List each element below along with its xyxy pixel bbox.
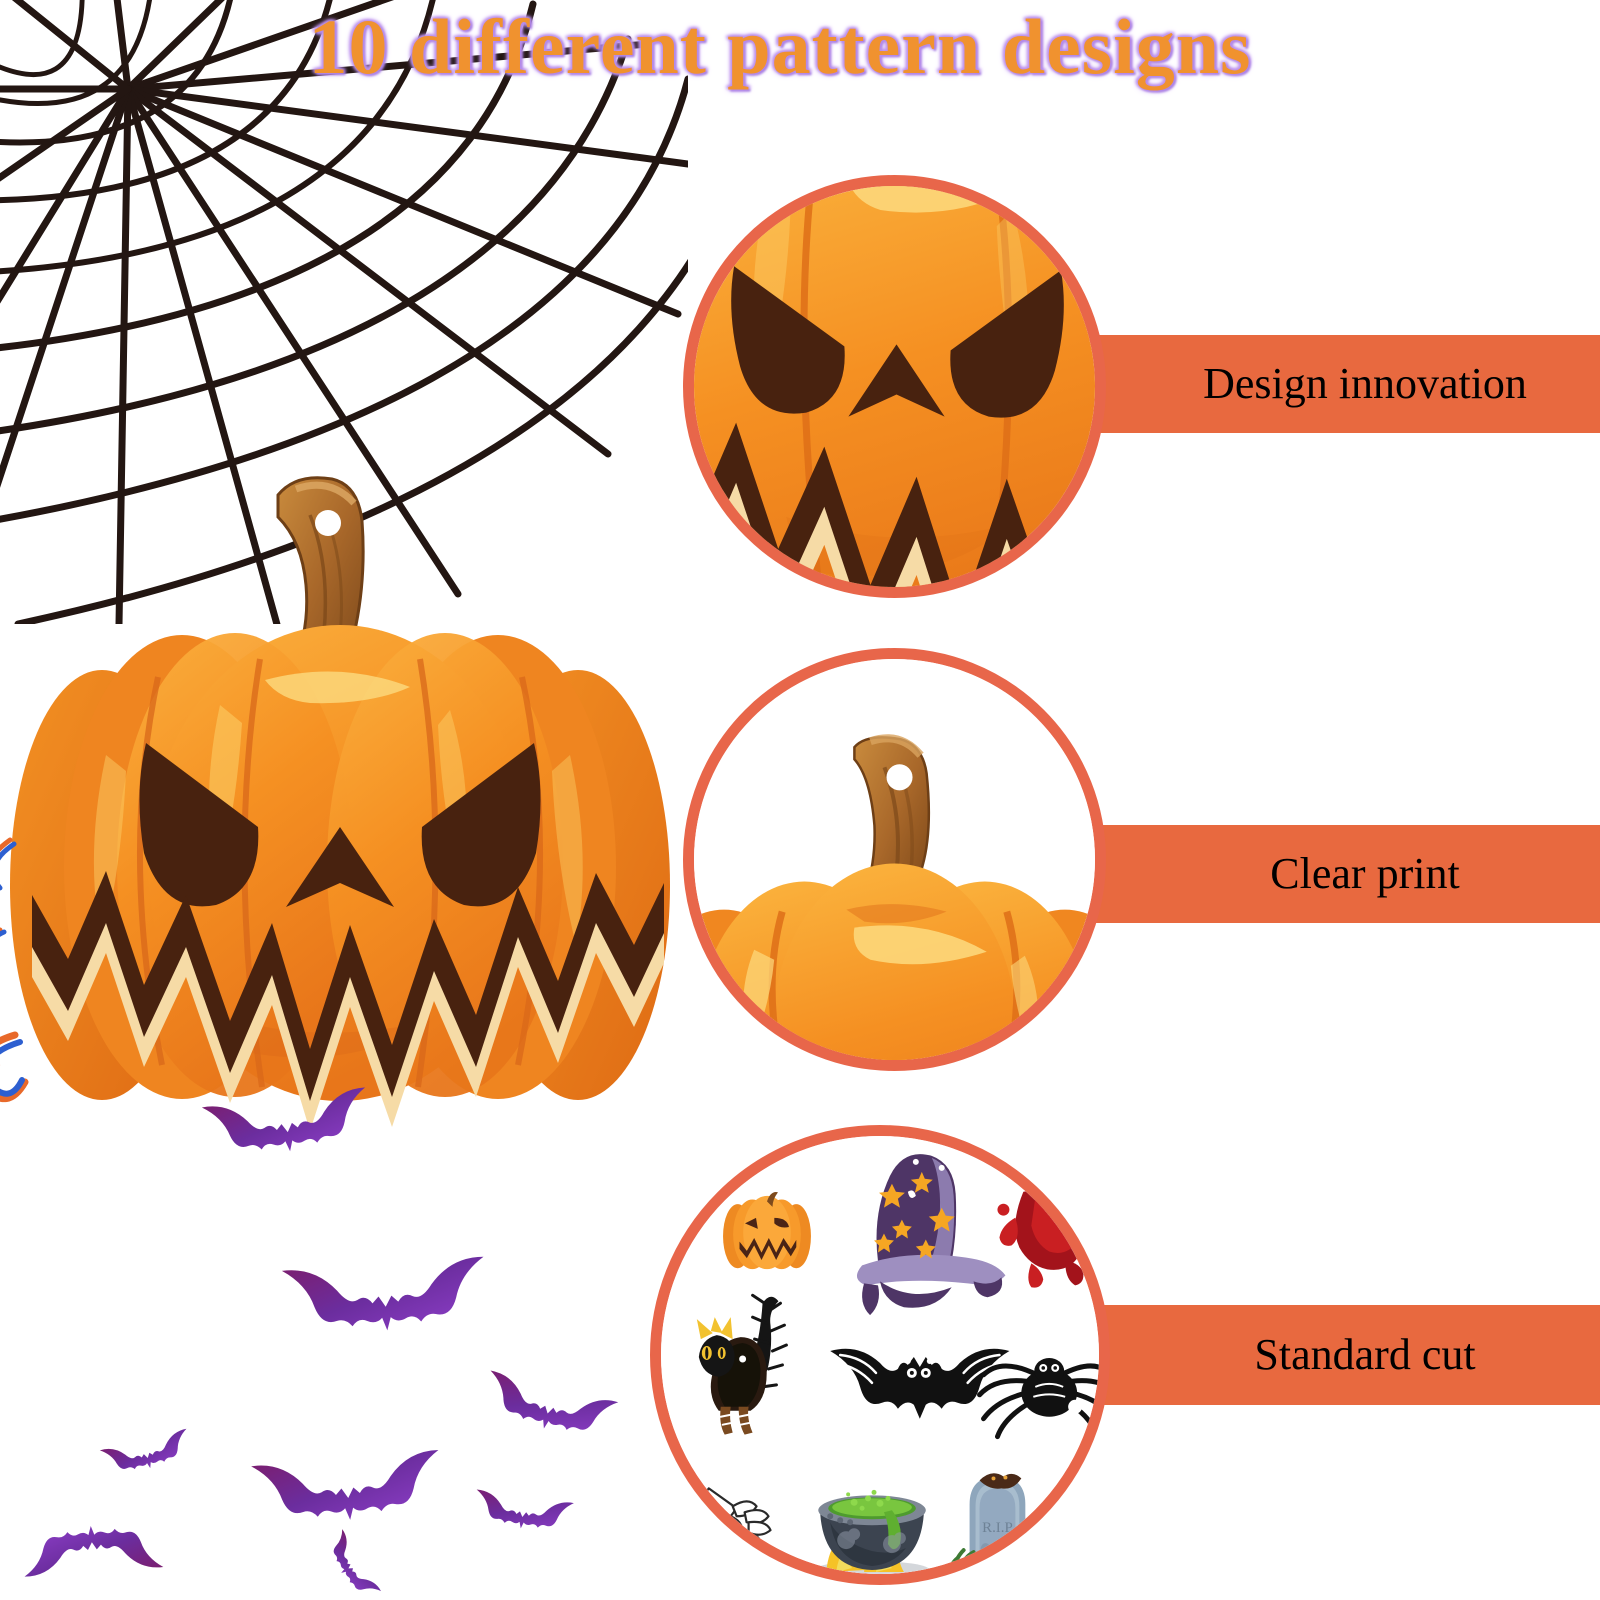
jack-o-lantern-icon (10, 455, 670, 1135)
callout-label-bar-design-innovation[interactable]: Design innovation (1060, 335, 1600, 433)
callout-circle-standard-cut[interactable]: R.I.P (650, 1125, 1110, 1585)
bat-icon (0, 1080, 700, 1600)
callout-circle-design-innovation[interactable] (683, 175, 1106, 598)
callout-label-clear-print: Clear print (1060, 852, 1600, 896)
callout-label-bar-standard-cut[interactable]: Standard cut (1060, 1305, 1600, 1405)
poster-canvas: 10 different pattern designs (0, 0, 1600, 1600)
swirl-decoration-icon (0, 820, 60, 1120)
page-title: 10 different pattern designs (0, 2, 1560, 92)
callout-label-bar-clear-print[interactable]: Clear print (1060, 825, 1600, 923)
tombstone-text: R.I.P (982, 1520, 1013, 1536)
ornament-assortment-icon: R.I.P (661, 1136, 1099, 1574)
callout-circle-clear-print[interactable] (683, 648, 1106, 1071)
pumpkin-stem-closeup-icon (694, 659, 1095, 1060)
callout-label-standard-cut: Standard cut (1060, 1333, 1600, 1377)
callout-label-design-innovation: Design innovation (1060, 362, 1600, 406)
pumpkin-face-closeup-icon (694, 186, 1095, 587)
